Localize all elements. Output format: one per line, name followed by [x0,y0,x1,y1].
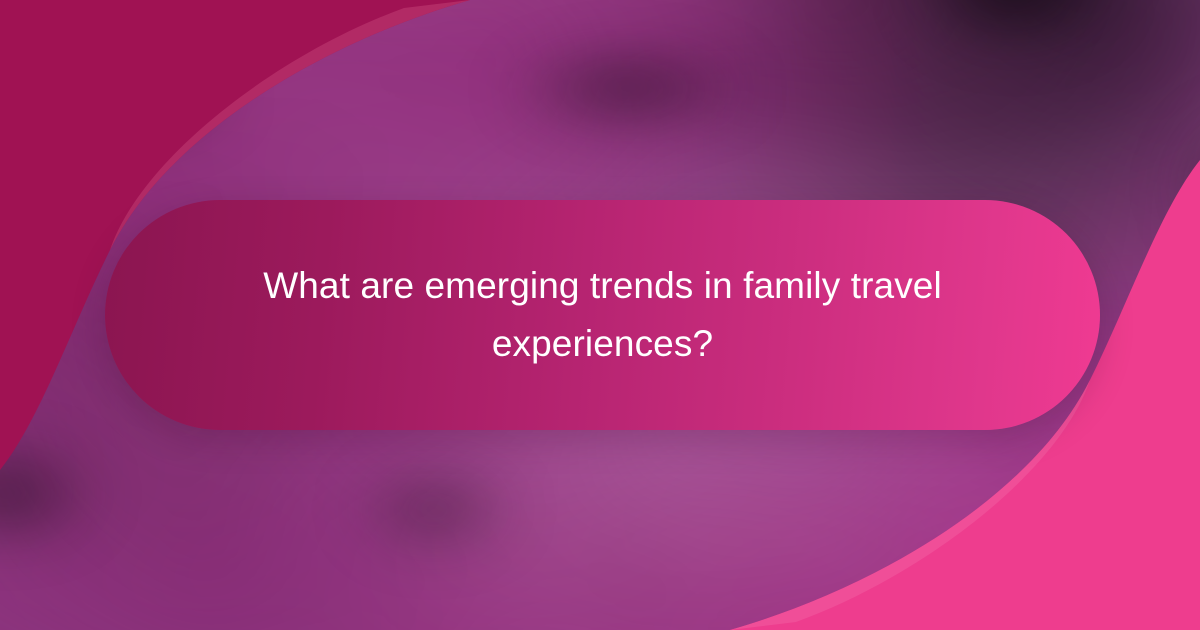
question-card: What are emerging trends in family trave… [105,200,1100,430]
share-card-canvas: What are emerging trends in family trave… [0,0,1200,630]
question-text: What are emerging trends in family trave… [225,257,980,373]
